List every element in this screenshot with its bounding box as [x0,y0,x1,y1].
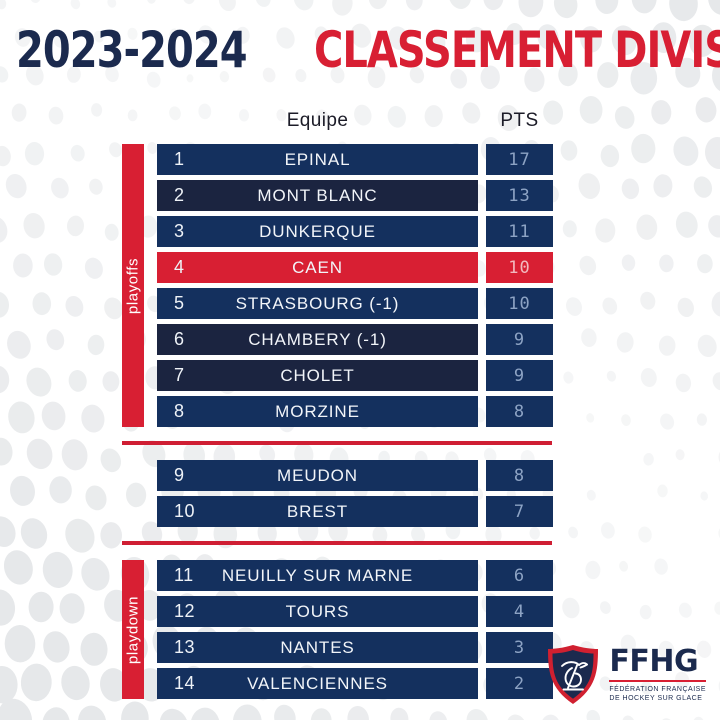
points-cell: 8 [486,460,553,491]
ffhg-logo: FFHG FÉDÉRATION FRANÇAISE DE HOCKEY SUR … [546,644,706,706]
team-cell: 3DUNKERQUE [157,216,478,247]
team-cell: 2MONT BLANC [157,180,478,211]
team-cell: 14VALENCIENNES [157,668,478,699]
table-row[interactable]: 7CHOLET9 [157,360,553,391]
team-name: CAEN [157,258,478,278]
points-value: 3 [514,638,525,658]
points-cell: 8 [486,396,553,427]
table-row[interactable]: 2MONT BLANC13 [157,180,553,211]
team-name: CHOLET [157,366,478,386]
points-value: 4 [514,602,525,622]
rank-number: 14 [174,673,195,694]
table-row[interactable]: 6CHAMBERY (-1)9 [157,324,553,355]
points-cell: 11 [486,216,553,247]
points-value: 8 [514,402,525,422]
rank-number: 9 [174,465,185,486]
rank-number: 1 [174,149,185,170]
team-cell: 7CHOLET [157,360,478,391]
rank-number: 2 [174,185,185,206]
team-cell: 5STRASBOURG (-1) [157,288,478,319]
team-name: NANTES [157,638,478,658]
points-cell: 9 [486,360,553,391]
section-label-playdown: playdown [125,595,142,663]
table-row[interactable]: 14VALENCIENNES2 [157,668,553,699]
table-row[interactable]: 13NANTES3 [157,632,553,663]
team-cell: 9MEUDON [157,460,478,491]
points-cell: 2 [486,668,553,699]
ffhg-wordmark: FFHG FÉDÉRATION FRANÇAISE DE HOCKEY SUR … [609,647,706,703]
points-cell: 6 [486,560,553,591]
points-value: 10 [508,294,530,314]
table-row[interactable]: 1EPINAL17 [157,144,553,175]
team-name: DUNKERQUE [157,222,478,242]
team-name: VALENCIENNES [157,674,478,694]
standings-table: Equipe PTS 1EPINAL172MONT BLANC133DUNKER… [0,0,720,720]
points-cell: 9 [486,324,553,355]
team-name: MORZINE [157,402,478,422]
team-name: EPINAL [157,150,478,170]
team-name: TOURS [157,602,478,622]
column-headers: Equipe PTS [157,110,553,138]
table-row[interactable]: 9MEUDON8 [157,460,553,491]
points-cell: 4 [486,596,553,627]
points-value: 6 [514,566,525,586]
team-name: BREST [157,502,478,522]
points-cell: 13 [486,180,553,211]
team-name: CHAMBERY (-1) [157,330,478,350]
points-value: 9 [514,366,525,386]
points-value: 11 [508,222,530,242]
rank-number: 5 [174,293,185,314]
ffhg-subtitle-line1: FÉDÉRATION FRANÇAISE [609,685,706,694]
rank-number: 6 [174,329,185,350]
rank-number: 12 [174,601,195,622]
points-cell: 17 [486,144,553,175]
team-cell: 8MORZINE [157,396,478,427]
points-value: 8 [514,466,525,486]
points-value: 9 [514,330,525,350]
table-row[interactable]: 5STRASBOURG (-1)10 [157,288,553,319]
rank-number: 7 [174,365,185,386]
header-team: Equipe [157,110,478,132]
table-row[interactable]: 4CAEN10 [157,252,553,283]
points-cell: 3 [486,632,553,663]
team-cell: 11NEUILLY SUR MARNE [157,560,478,591]
table-row[interactable]: 3DUNKERQUE11 [157,216,553,247]
points-value: 13 [508,186,530,206]
points-value: 17 [508,150,530,170]
ffhg-name: FFHG [609,647,706,677]
section-label-playoffs: playoffs [125,257,142,313]
points-cell: 10 [486,288,553,319]
rank-number: 4 [174,257,185,278]
rank-number: 11 [174,565,194,586]
points-value: 10 [508,258,530,278]
team-name: STRASBOURG (-1) [157,294,478,314]
ffhg-divider [609,680,706,682]
points-cell: 10 [486,252,553,283]
rank-number: 10 [174,501,195,522]
divider-playoffs-end [122,441,552,445]
table-row[interactable]: 8MORZINE8 [157,396,553,427]
table-row[interactable]: 12TOURS4 [157,596,553,627]
team-cell: 12TOURS [157,596,478,627]
title-main: CLASSEMENT DIVISION 1 [314,25,720,75]
page-title: 2023-2024 CLASSEMENT DIVISION 1 [0,14,720,86]
rank-number: 8 [174,401,185,422]
title-season: 2023-2024 [16,25,247,75]
table-row[interactable]: 10BREST7 [157,496,553,527]
section-bar-playoffs: playoffs [122,144,144,427]
team-cell: 4CAEN [157,252,478,283]
team-name: MEUDON [157,466,478,486]
ffhg-shield-icon [546,644,600,706]
table-row[interactable]: 11NEUILLY SUR MARNE6 [157,560,553,591]
rank-number: 13 [174,637,195,658]
points-cell: 7 [486,496,553,527]
rank-number: 3 [174,221,185,242]
team-name: MONT BLANC [157,186,478,206]
points-value: 2 [514,674,525,694]
divider-playdown-start [122,541,552,545]
team-cell: 1EPINAL [157,144,478,175]
team-cell: 13NANTES [157,632,478,663]
header-points: PTS [486,110,553,132]
ffhg-subtitle-line2: DE HOCKEY SUR GLACE [609,694,706,703]
team-cell: 10BREST [157,496,478,527]
section-bar-playdown: playdown [122,560,144,699]
team-name: NEUILLY SUR MARNE [157,566,478,586]
team-cell: 6CHAMBERY (-1) [157,324,478,355]
points-value: 7 [514,502,525,522]
